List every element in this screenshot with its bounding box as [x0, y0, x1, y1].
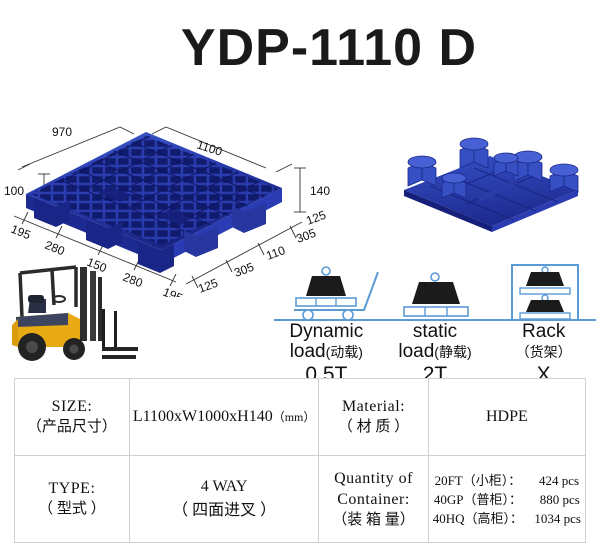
size-value: L1100xW1000xH140: [133, 408, 273, 425]
size-unit: （mm）: [273, 410, 316, 424]
dynamic-load-icon: [294, 267, 378, 320]
quantity-label-cn: （装 箱 量）: [322, 510, 424, 531]
cell-type-label: TYPE: （ 型式 ）: [15, 456, 130, 543]
quantity-row-40gp: 40GP（普柜）： 880 pcs: [432, 490, 582, 509]
material-label-en: Material:: [322, 396, 424, 417]
type-label-en: TYPE:: [18, 478, 126, 499]
quantity-label-en2: Container:: [322, 489, 424, 510]
load-column-dynamic: Dynamic load(动载) 0.5T: [272, 322, 381, 386]
table-row-size-material: SIZE: （产品尺寸） L1100xW1000xH140（mm） Materi…: [15, 379, 586, 456]
cell-size-value: L1100xW1000xH140（mm）: [129, 379, 319, 456]
dim-110: 110: [264, 243, 287, 263]
cell-size-label: SIZE: （产品尺寸）: [15, 379, 130, 456]
static-load-label-cn: (静载): [434, 344, 471, 360]
pallet-bottom-view-illustration: [382, 128, 597, 245]
dim-195-a: 195: [9, 222, 33, 243]
forklift-photo: [2, 255, 142, 373]
container-unit-20ft: pcs: [562, 473, 579, 488]
load-column-static: static load(静载) 2T: [381, 322, 490, 386]
forklift-forks: [102, 309, 138, 359]
specification-table: SIZE: （产品尺寸） L1100xW1000xH140（mm） Materi…: [14, 378, 586, 543]
quantity-row-40hq: 40HQ（高柜）： 1034 pcs: [432, 509, 582, 528]
static-load-icon: [404, 273, 468, 316]
container-code-40gp: 40GP（普柜）：: [434, 492, 522, 507]
load-labels-row: Dynamic load(动载) 0.5T static load(静载) 2T…: [272, 322, 598, 386]
type-label-cn: （ 型式 ）: [18, 499, 126, 520]
type-value-en: 4 WAY: [133, 475, 316, 499]
load-capacity-section: Dynamic load(动载) 0.5T static load(静载) 2T…: [272, 262, 598, 374]
container-unit-40hq: pcs: [564, 511, 581, 526]
size-label-en: SIZE:: [18, 396, 126, 417]
dim-100: 100: [4, 184, 24, 198]
container-unit-40gp: pcs: [562, 492, 579, 507]
forklift-cage: [20, 267, 76, 317]
dim-305-a: 305: [232, 260, 256, 280]
dynamic-load-label-cn: (动载): [326, 344, 363, 360]
dim-125-a: 125: [196, 276, 220, 296]
container-count-40gp: 880: [525, 490, 559, 509]
static-load-label-en2: load: [398, 341, 434, 362]
dynamic-load-label-en2: load: [290, 341, 326, 362]
product-spec-sheet: YDP-1110 D: [0, 0, 600, 539]
page-title: YDP-1110 D: [0, 18, 600, 78]
container-count-40hq: 1034: [526, 509, 560, 528]
cell-quantity-value: 20FT（小柜）： 424 pcs 40GP（普柜）： 880 pcs 40HQ…: [428, 456, 585, 543]
table-row-type-quantity: TYPE: （ 型式 ） 4 WAY （ 四面进叉 ） Quantity of …: [15, 456, 586, 543]
dim-970: 970: [52, 125, 72, 139]
dim-140: 140: [310, 184, 330, 198]
forklift-mast: [80, 267, 87, 341]
dim-125-b: 125: [304, 208, 328, 228]
cell-type-value: 4 WAY （ 四面进叉 ）: [129, 456, 319, 543]
static-load-label-en: static: [413, 321, 457, 342]
quantity-row-20ft: 20FT（小柜）： 424 pcs: [432, 471, 582, 490]
type-value-cn: （ 四面进叉 ）: [133, 499, 316, 523]
material-label-cn: （ 材 质 ）: [322, 417, 424, 438]
rack-label-cn: （货架）: [516, 344, 572, 360]
dynamic-load-label-en: Dynamic: [289, 321, 363, 342]
quantity-label-en1: Quantity of: [322, 468, 424, 489]
cell-quantity-label: Quantity of Container: （装 箱 量）: [319, 456, 428, 543]
material-value: HDPE: [432, 406, 582, 428]
pallet-top-view-illustration: [26, 132, 282, 273]
dim-195-b: 195: [161, 285, 185, 297]
cell-material-label: Material: （ 材 质 ）: [319, 379, 428, 456]
load-column-rack: Rack （货架） X: [489, 322, 598, 386]
dim-305-b: 305: [294, 226, 318, 246]
cell-material-value: HDPE: [428, 379, 585, 456]
rack-load-icon: [512, 264, 578, 320]
container-code-40hq: 40HQ（高柜）：: [433, 511, 523, 526]
rack-label-en: Rack: [522, 321, 565, 342]
container-count-20ft: 424: [525, 471, 559, 490]
container-code-20ft: 20FT（小柜）：: [435, 473, 522, 488]
size-label-cn: （产品尺寸）: [18, 417, 126, 438]
